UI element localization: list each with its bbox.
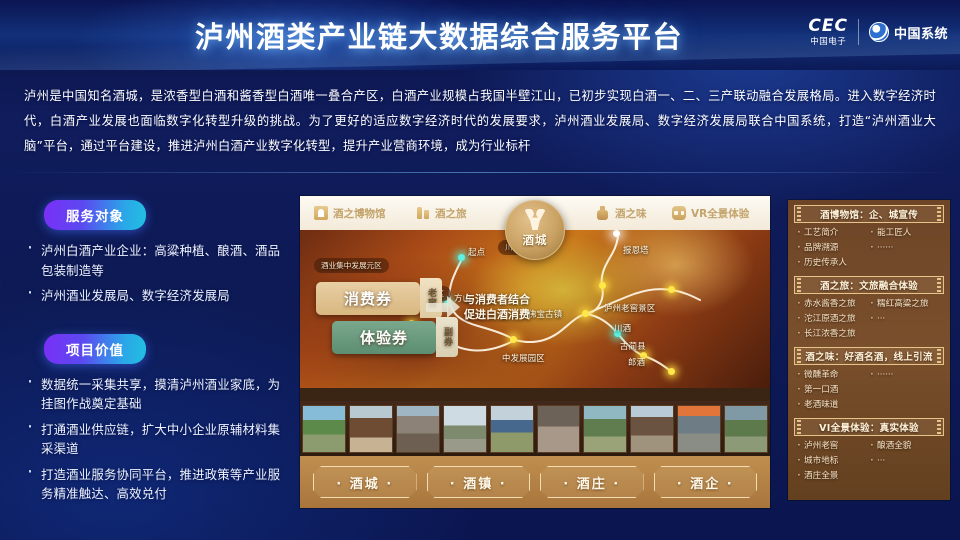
feature-panel-taste: 酒之味：好酒名酒，线上引流 微醺革命 ······ 第一口酒 老酒味道 [794, 347, 944, 414]
consumer-note-line1: 与消费者结合 [464, 292, 530, 307]
panel-title: 酒之味：好酒名酒，线上引流 [794, 347, 944, 365]
consumer-note: 与消费者结合 促进白酒消费 [426, 292, 530, 322]
list-item[interactable]: 工艺简介 [796, 226, 869, 241]
feature-panel-vr: VI全景体验：真实体验 泸州老窖 酿酒全貌 城市地标 ··· 酒庄全景 [794, 418, 944, 485]
list-item[interactable]: 城市地标 [796, 454, 869, 469]
nav-item-label: 酒之博物馆 [333, 206, 386, 221]
list-item[interactable]: 第一口酒 [796, 383, 942, 398]
list-item[interactable]: 长江浓香之旅 [796, 327, 942, 342]
map-node[interactable] [668, 286, 675, 293]
logo-divider [858, 19, 859, 45]
museum-icon [314, 206, 328, 220]
list-item[interactable]: 酒庄全景 [796, 469, 942, 484]
list-item[interactable]: 糯红高粱之旅 [869, 297, 942, 312]
nav-item-vr[interactable]: VR全景体验 [672, 206, 749, 221]
consumption-coupon[interactable]: 消费券 老窖 [316, 282, 420, 315]
glow-divider [0, 172, 960, 173]
map-node[interactable] [613, 230, 620, 237]
intro-paragraph: 泸州是中国知名酒城，是浓香型白酒和酱香型白酒唯一叠合产区，白酒产业规模占我国半壁… [24, 84, 936, 159]
map-label: 佛宝古镇 [528, 308, 562, 320]
list-item[interactable]: 泸州老窖 [796, 439, 869, 454]
map-label: 川酒 [614, 322, 631, 334]
category-tab-bar: · 酒城 · · 酒镇 · · 酒庄 · · 酒企 · [300, 456, 770, 508]
panel-item-list: 工艺简介 能工匠人 品牌溯源 ······ 历史传承人 [794, 223, 944, 272]
page-title: 泸州酒类产业链大数据综合服务平台 [195, 14, 683, 56]
panel-title: 酒博物馆：企、城宣传 [794, 205, 944, 223]
tab-wine-city[interactable]: · 酒城 · [313, 466, 417, 498]
nav-item-tour[interactable]: 酒之旅 [416, 206, 467, 221]
coupon-group: 消费券 老窖 体验券 副券 [316, 282, 436, 354]
thumbnail[interactable] [349, 405, 393, 453]
panel-item-list: 微醺革命 ······ 第一口酒 老酒味道 [794, 365, 944, 414]
list-item: 打通酒业供应链，扩大中小企业原辅材料集采渠道 [24, 420, 290, 459]
logo-group: CEC 中国电子 中国系统 [808, 18, 948, 47]
experience-coupon[interactable]: 体验券 副券 [332, 321, 436, 354]
map-node[interactable] [582, 310, 589, 317]
list-item[interactable]: 历史传承人 [796, 256, 942, 271]
cec-logo-icon: CEC 中国电子 [808, 18, 848, 47]
nav-item-taste[interactable]: 酒之味 [596, 206, 647, 221]
map-node[interactable] [668, 368, 675, 375]
right-feature-column: 酒博物馆：企、城宣传 工艺简介 能工匠人 品牌溯源 ······ 历史传承人 酒… [788, 200, 950, 500]
list-item: ······ [869, 368, 942, 383]
thumbnail[interactable] [630, 405, 674, 453]
list-item[interactable]: 老酒味道 [796, 398, 942, 413]
thumbnail[interactable] [490, 405, 534, 453]
emblem-label: 酒城 [523, 232, 548, 248]
map-label: 报恩塔 [623, 244, 649, 256]
nav-item-label: VR全景体验 [691, 206, 749, 221]
list-item: ··· [869, 454, 942, 469]
map-label: 起点 [468, 246, 485, 258]
thumbnail[interactable] [302, 405, 346, 453]
nav-item-label: 酒之旅 [435, 206, 467, 221]
list-item[interactable]: 酿酒全貌 [869, 439, 942, 454]
china-system-logo-icon: 中国系统 [869, 22, 948, 42]
section-badge-project-value: 项目价值 [44, 334, 146, 364]
photo-thumbnail-strip [300, 401, 770, 456]
panel-item-list: 泸州老窖 酿酒全貌 城市地标 ··· 酒庄全景 [794, 436, 944, 485]
thumbnail[interactable] [443, 405, 487, 453]
feature-panel-tour: 酒之旅：文旅融合体验 赤水酱香之旅 糯红高粱之旅 沱江原酒之旅 ··· 长江浓香… [794, 276, 944, 343]
map-node[interactable] [458, 254, 465, 261]
map-label: 中发展园区 [502, 352, 545, 364]
list-item[interactable]: 沱江原酒之旅 [796, 312, 869, 327]
project-value-list: 数据统一采集共享，摸清泸州酒业家底，为挂图作战奠定基础 打通酒业供应链，扩大中小… [18, 375, 290, 504]
list-item: ······ [869, 241, 942, 256]
nav-item-museum[interactable]: 酒之博物馆 [314, 206, 386, 221]
slide-root: 泸州酒类产业链大数据综合服务平台 CEC 中国电子 中国系统 泸州是中国知名酒城… [0, 0, 960, 540]
china-system-mark-icon [869, 22, 889, 42]
list-item: 泸州白酒产业企业：高粱种植、酿酒、酒品包装制造等 [24, 241, 290, 280]
nav-item-label: 酒之味 [615, 206, 647, 221]
thumbnail[interactable] [677, 405, 721, 453]
cec-logo-text: CEC [808, 18, 848, 35]
feature-panel-museum: 酒博物馆：企、城宣传 工艺简介 能工匠人 品牌溯源 ······ 历史传承人 [794, 205, 944, 272]
consumer-note-line2: 促进白酒消费 [464, 307, 530, 322]
thumbnail[interactable] [537, 405, 581, 453]
list-item: 数据统一采集共享，摸清泸州酒业家底，为挂图作战奠定基础 [24, 375, 290, 414]
list-item[interactable]: 品牌溯源 [796, 241, 869, 256]
coupon-label: 消费券 [344, 288, 392, 309]
thumbnail[interactable] [724, 405, 768, 453]
list-item: 泸州酒业发展局、数字经济发展局 [24, 286, 290, 306]
tab-wine-town[interactable]: · 酒镇 · [427, 466, 531, 498]
section-badge-service-target: 服务对象 [44, 200, 146, 230]
map-node[interactable] [510, 336, 517, 343]
wine-city-emblem-icon[interactable]: 酒城 [505, 200, 565, 260]
map-label: 郎酒 [628, 356, 645, 368]
intro-block: 泸州是中国知名酒城，是浓香型白酒和酱香型白酒唯一叠合产区，白酒产业规模占我国半壁… [0, 76, 960, 168]
cec-logo-subtext: 中国电子 [808, 38, 848, 47]
panel-title: 酒之旅：文旅融合体验 [794, 276, 944, 294]
service-target-list: 泸州白酒产业企业：高粱种植、酿酒、酒品包装制造等 泸州酒业发展局、数字经济发展局 [18, 241, 290, 306]
map-node[interactable] [599, 282, 606, 289]
center-showcase-panel: 酒之博物馆 酒之旅 酒之味 VR全景体验 酒城 [300, 196, 770, 508]
emblem-mark-icon [524, 209, 546, 230]
list-item[interactable]: 赤水酱香之旅 [796, 297, 869, 312]
panel-title: VI全景体验：真实体验 [794, 418, 944, 436]
map-chip[interactable]: 酒业集中发展元区 [314, 258, 389, 273]
list-item[interactable]: 能工匠人 [869, 226, 942, 241]
consumer-note-text: 与消费者结合 促进白酒消费 [464, 292, 530, 322]
list-item: 打造酒业服务协同平台，推进政策等产业服务精准触达、高效兑付 [24, 465, 290, 504]
list-item: ··· [869, 312, 942, 327]
coupon-label: 体验券 [360, 327, 408, 348]
thumbnail[interactable] [583, 405, 627, 453]
vr-goggles-icon [672, 206, 686, 220]
right-arrow-icon [426, 296, 460, 318]
spacer [18, 312, 290, 334]
liquor-jar-icon [596, 206, 610, 220]
map-label: 泸州老窖景区 [604, 302, 655, 314]
page-header: 泸州酒类产业链大数据综合服务平台 CEC 中国电子 中国系统 [0, 0, 960, 70]
coupon-tab-label: 副券 [436, 317, 458, 357]
tab-wine-company[interactable]: · 酒企 · [654, 466, 758, 498]
panel-item-list: 赤水酱香之旅 糯红高粱之旅 沱江原酒之旅 ··· 长江浓香之旅 [794, 294, 944, 343]
thumbnail[interactable] [396, 405, 440, 453]
map-label: 古蔺县 [620, 340, 646, 352]
left-column: 服务对象 泸州白酒产业企业：高粱种植、酿酒、酒品包装制造等 泸州酒业发展局、数字… [18, 200, 290, 510]
bottle-tour-icon [416, 206, 430, 220]
tab-wine-estate[interactable]: · 酒庄 · [540, 466, 644, 498]
china-system-label: 中国系统 [894, 23, 948, 42]
list-item[interactable]: 微醺革命 [796, 368, 869, 383]
